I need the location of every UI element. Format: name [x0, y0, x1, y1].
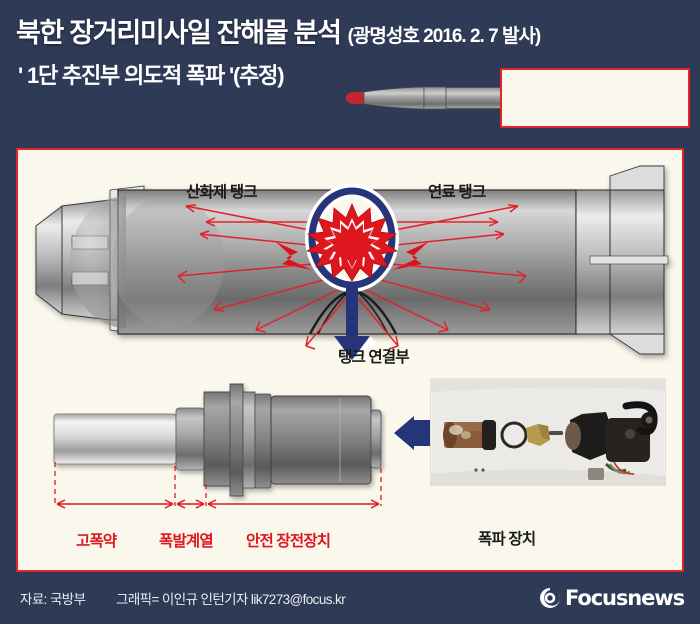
detonator-cutaway-drawing [40, 378, 400, 518]
footer: 자료: 국방부 그래픽= 이인규 인턴기자 lik7273@focus.kr F… [0, 575, 700, 624]
page-subtitle: (광명성호 2016. 2. 7 발사) [348, 21, 541, 48]
header: 북한 장거리미사일 잔해물 분석 (광명성호 2016. 2. 7 발사) ' … [0, 0, 700, 136]
infographic-page: 북한 장거리미사일 잔해물 분석 (광명성호 2016. 2. 7 발사) ' … [0, 0, 700, 624]
explosion-burst-icon [305, 184, 399, 292]
label-detonation-device: 폭파 장치 [478, 527, 535, 549]
first-stage-cutaway [18, 164, 682, 364]
full-missile-illustration [340, 66, 692, 130]
label-explosive-train: 폭발계열 [159, 529, 213, 551]
footer-credit: 그래픽= 이인규 인턴기자 lik7273@focus.kr [116, 588, 345, 608]
label-fuel-tank: 연료 탱크 [428, 180, 485, 202]
focusnews-logo: Focusnews [538, 586, 684, 610]
label-oxidizer-tank: 산화제 탱크 [186, 180, 257, 202]
focus-swirl-icon [538, 586, 562, 610]
page-title-line2: ' 1단 추진부 의도적 폭파 '(추정) [18, 58, 283, 90]
title-row: 북한 장거리미사일 잔해물 분석 (광명성호 2016. 2. 7 발사) [16, 11, 540, 50]
page-title: 북한 장거리미사일 잔해물 분석 [16, 11, 341, 50]
label-high-explosive: 고폭약 [76, 529, 116, 551]
label-safety-arming-device: 안전 장전장치 [246, 529, 330, 551]
detonation-device-photo [430, 378, 666, 486]
label-tank-joint: 탱크 연결부 [338, 345, 409, 367]
first-stage-highlight-box [500, 68, 690, 128]
logo-text: Focusnews [565, 586, 684, 610]
footer-source: 자료: 국방부 [20, 588, 85, 608]
